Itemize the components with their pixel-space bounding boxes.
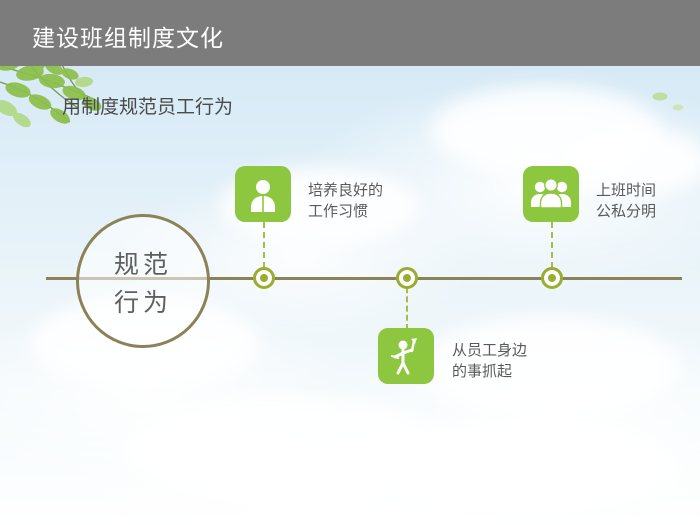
center-circle-line1: 规范 [79,245,207,281]
people-group-icon [523,166,579,222]
timeline-node-1 [253,267,275,289]
item-label-3-line2: 的事抓起 [452,361,527,382]
item-label-2-line2: 公私分明 [596,201,656,222]
timeline-node-3 [396,267,418,289]
center-circle: 规范 行为 [76,214,210,348]
cloud-shape [380,416,680,516]
item-icon-box-3[interactable] [378,328,434,384]
item-label-2: 上班时间 公私分明 [596,180,656,222]
item-icon-box-2[interactable] [523,166,579,222]
item-label-1: 培养良好的 工作习惯 [308,180,383,222]
person-icon [235,166,291,222]
title-bar: 建设班组制度文化 [0,0,700,66]
center-circle-line2: 行为 [79,283,207,319]
item-icon-box-1[interactable] [235,166,291,222]
item-label-1-line2: 工作习惯 [308,201,383,222]
page-title: 建设班组制度文化 [32,19,224,53]
item-label-3: 从员工身边 的事抓起 [452,340,527,382]
timeline-node-2 [541,267,563,289]
item-label-2-line1: 上班时间 [596,180,656,201]
item-label-3-line1: 从员工身边 [452,340,527,361]
item-label-1-line1: 培养良好的 [308,180,383,201]
person-cleaning-icon [378,328,434,384]
slide-canvas: 建设班组制度文化 用制度规范员工行为 规范 行为 培养良好的 工作习惯 [0,0,700,525]
subtitle: 用制度规范员工行为 [62,92,233,119]
